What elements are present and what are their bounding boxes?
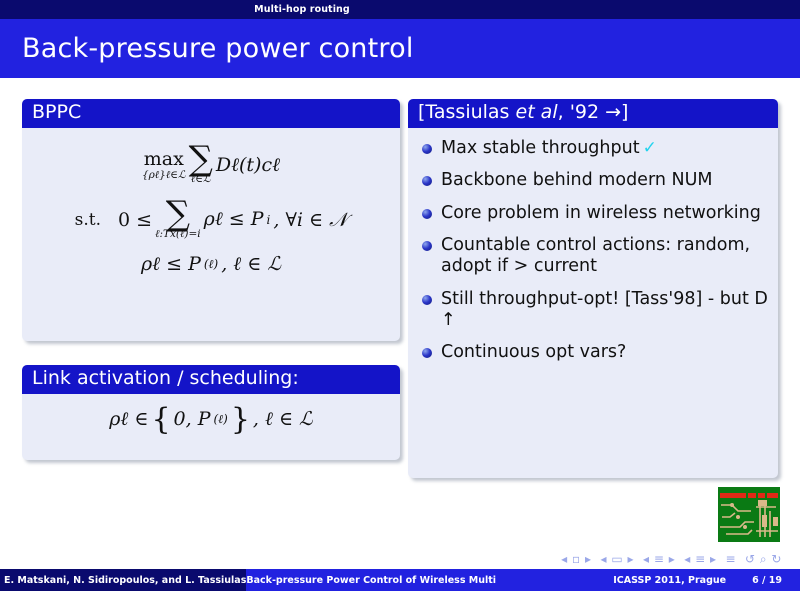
objective-equation: max {ρℓ}ℓ∈ℒ ∑ ℓ∈ℒ Dℓ(t)cℓ bbox=[30, 146, 392, 185]
max-operator: max {ρℓ}ℓ∈ℒ bbox=[142, 150, 186, 181]
bullet-text: Max stable throughput✓ bbox=[441, 138, 770, 159]
list-item: Countable control actions: random, adopt… bbox=[414, 235, 770, 278]
link-activation-title: Link activation / scheduling: bbox=[22, 365, 400, 394]
nav-prev-section-icon[interactable]: ◂ ≡ ▸ bbox=[643, 552, 675, 566]
constraint-two: ρℓ ≤ P(ℓ), ℓ ∈ ℒ bbox=[30, 253, 392, 276]
section-bar-right bbox=[402, 0, 800, 19]
list-item: Continuous opt vars? bbox=[414, 342, 770, 363]
max-operator-subscript: {ρℓ}ℓ∈ℒ bbox=[142, 170, 186, 181]
constraint-two-superscript: (ℓ) bbox=[204, 257, 218, 272]
tassiulas-title-italic: et al bbox=[516, 101, 558, 123]
objective-sum: ∑ ℓ∈ℒ bbox=[189, 146, 213, 185]
section-tab[interactable]: Multi-hop routing bbox=[202, 0, 402, 19]
footer-venue: ICASSP 2011, Prague bbox=[613, 575, 726, 586]
bppc-block-body: max {ρℓ}ℓ∈ℒ ∑ ℓ∈ℒ Dℓ(t)cℓ s.t. 0 ≤ ∑ ℓ:T… bbox=[22, 128, 400, 284]
bullet-label: Still throughput-opt! [Tass'98] - but D … bbox=[441, 289, 770, 332]
constraint-body-subscript: i bbox=[267, 213, 271, 227]
list-item: Still throughput-opt! [Tass'98] - but D … bbox=[414, 289, 770, 332]
sum-subscript: ℓ∈ℒ bbox=[191, 174, 211, 185]
constraint-sum: ∑ ℓ:Tx(ℓ)=i bbox=[155, 201, 201, 240]
list-item: Core problem in wireless networking bbox=[414, 203, 770, 224]
constraint-tail: , ∀i ∈ 𝒩 bbox=[273, 209, 347, 231]
nav-contents-icon[interactable]: ≡ bbox=[725, 552, 736, 566]
nav-next-section-icon[interactable]: ◂ ≡ ▸ bbox=[684, 552, 716, 566]
constraint-two-lhs: ρℓ ≤ P bbox=[141, 253, 201, 276]
bullet-dot-icon bbox=[422, 209, 432, 219]
objective-body: Dℓ(t)cℓ bbox=[216, 154, 280, 177]
link-eq-lhs: ρℓ ∈ bbox=[109, 408, 148, 431]
max-operator-symbol: max bbox=[144, 150, 184, 170]
sum-symbol: ∑ bbox=[166, 201, 190, 228]
tassiulas-block-title: [Tassiulas et al, '92 →] bbox=[408, 99, 778, 128]
sum-subscript: ℓ:Tx(ℓ)=i bbox=[155, 229, 201, 240]
constraint-lower-bound: 0 ≤ bbox=[118, 209, 152, 231]
link-activation-block: Link activation / scheduling: ρℓ ∈ { 0, … bbox=[22, 365, 400, 460]
brace-open: { bbox=[151, 406, 170, 433]
bullet-label: Core problem in wireless networking bbox=[441, 203, 770, 224]
constraint-two-tail: , ℓ ∈ ℒ bbox=[221, 253, 281, 276]
link-activation-body: ρℓ ∈ { 0, P(ℓ) } , ℓ ∈ ℒ bbox=[22, 394, 400, 441]
nav-first-frame-icon[interactable]: ◂ ▫ ▸ bbox=[561, 552, 591, 566]
bullet-dot-icon bbox=[422, 295, 432, 305]
footer-bottom-strip bbox=[0, 591, 800, 600]
bullet-dot-icon bbox=[422, 176, 432, 186]
check-icon: ✓ bbox=[640, 138, 657, 158]
tassiulas-bullet-list: Max stable throughput✓ Backbone behind m… bbox=[408, 128, 778, 364]
constraint-body: ρℓ ≤ P bbox=[204, 208, 264, 231]
bullet-label: Max stable throughput bbox=[441, 138, 640, 158]
link-activation-equation: ρℓ ∈ { 0, P(ℓ) } , ℓ ∈ ℒ bbox=[30, 406, 392, 433]
list-item: Backbone behind modern NUM bbox=[414, 170, 770, 191]
bullet-label: Countable control actions: random, adopt… bbox=[441, 235, 770, 278]
nav-prev-frame-icon[interactable]: ◂ ▭ ▸ bbox=[600, 552, 634, 566]
list-item: Max stable throughput✓ bbox=[414, 138, 770, 159]
constraint-one: s.t. 0 ≤ ∑ ℓ:Tx(ℓ)=i ρℓ ≤ Pi, ∀i ∈ 𝒩 bbox=[30, 201, 392, 240]
slide-footer: E. Matskani, N. Sidiropoulos, and L. Tas… bbox=[0, 569, 800, 591]
page-title: Back-pressure power control bbox=[22, 33, 414, 64]
bullet-label: Backbone behind modern NUM bbox=[441, 170, 770, 191]
footer-authors: E. Matskani, N. Sidiropoulos, and L. Tas… bbox=[0, 569, 246, 591]
footer-page-number: 6 / 19 bbox=[752, 575, 782, 586]
bullet-label: Continuous opt vars? bbox=[441, 342, 770, 363]
bullet-dot-icon bbox=[422, 144, 432, 154]
nav-back-find-forward-icon[interactable]: ↺ ⌕ ↻ bbox=[745, 552, 782, 567]
tassiulas-title-suffix: , '92 →] bbox=[558, 101, 629, 123]
beamer-navigation-bar[interactable]: ◂ ▫ ▸ ◂ ▭ ▸ ◂ ≡ ▸ ◂ ≡ ▸ ≡ ↺ ⌕ ↻ bbox=[0, 549, 800, 569]
tassiulas-title-prefix: [Tassiulas bbox=[418, 101, 516, 123]
subject-to-label: s.t. bbox=[75, 210, 101, 230]
brace-close: } bbox=[231, 406, 250, 433]
link-eq-set: 0, P bbox=[174, 408, 211, 430]
bppc-block: BPPC max {ρℓ}ℓ∈ℒ ∑ ℓ∈ℒ Dℓ(t)cℓ s.t. 0 ≤ … bbox=[22, 99, 400, 341]
institution-logo bbox=[718, 487, 780, 542]
bppc-block-title: BPPC bbox=[22, 99, 400, 128]
link-eq-set-superscript: (ℓ) bbox=[213, 412, 227, 427]
sum-symbol: ∑ bbox=[189, 146, 213, 173]
section-label: Multi-hop routing bbox=[254, 4, 350, 15]
footer-venue-group: ICASSP 2011, Prague 6 / 19 bbox=[613, 569, 800, 591]
bullet-dot-icon bbox=[422, 348, 432, 358]
tassiulas-block: [Tassiulas et al, '92 →] Max stable thro… bbox=[408, 99, 778, 478]
link-eq-tail: , ℓ ∈ ℒ bbox=[253, 408, 313, 431]
bullet-dot-icon bbox=[422, 241, 432, 251]
circuit-board-logo-icon bbox=[718, 487, 780, 542]
footer-paper-title: Back-pressure Power Control of Wireless … bbox=[246, 569, 613, 591]
